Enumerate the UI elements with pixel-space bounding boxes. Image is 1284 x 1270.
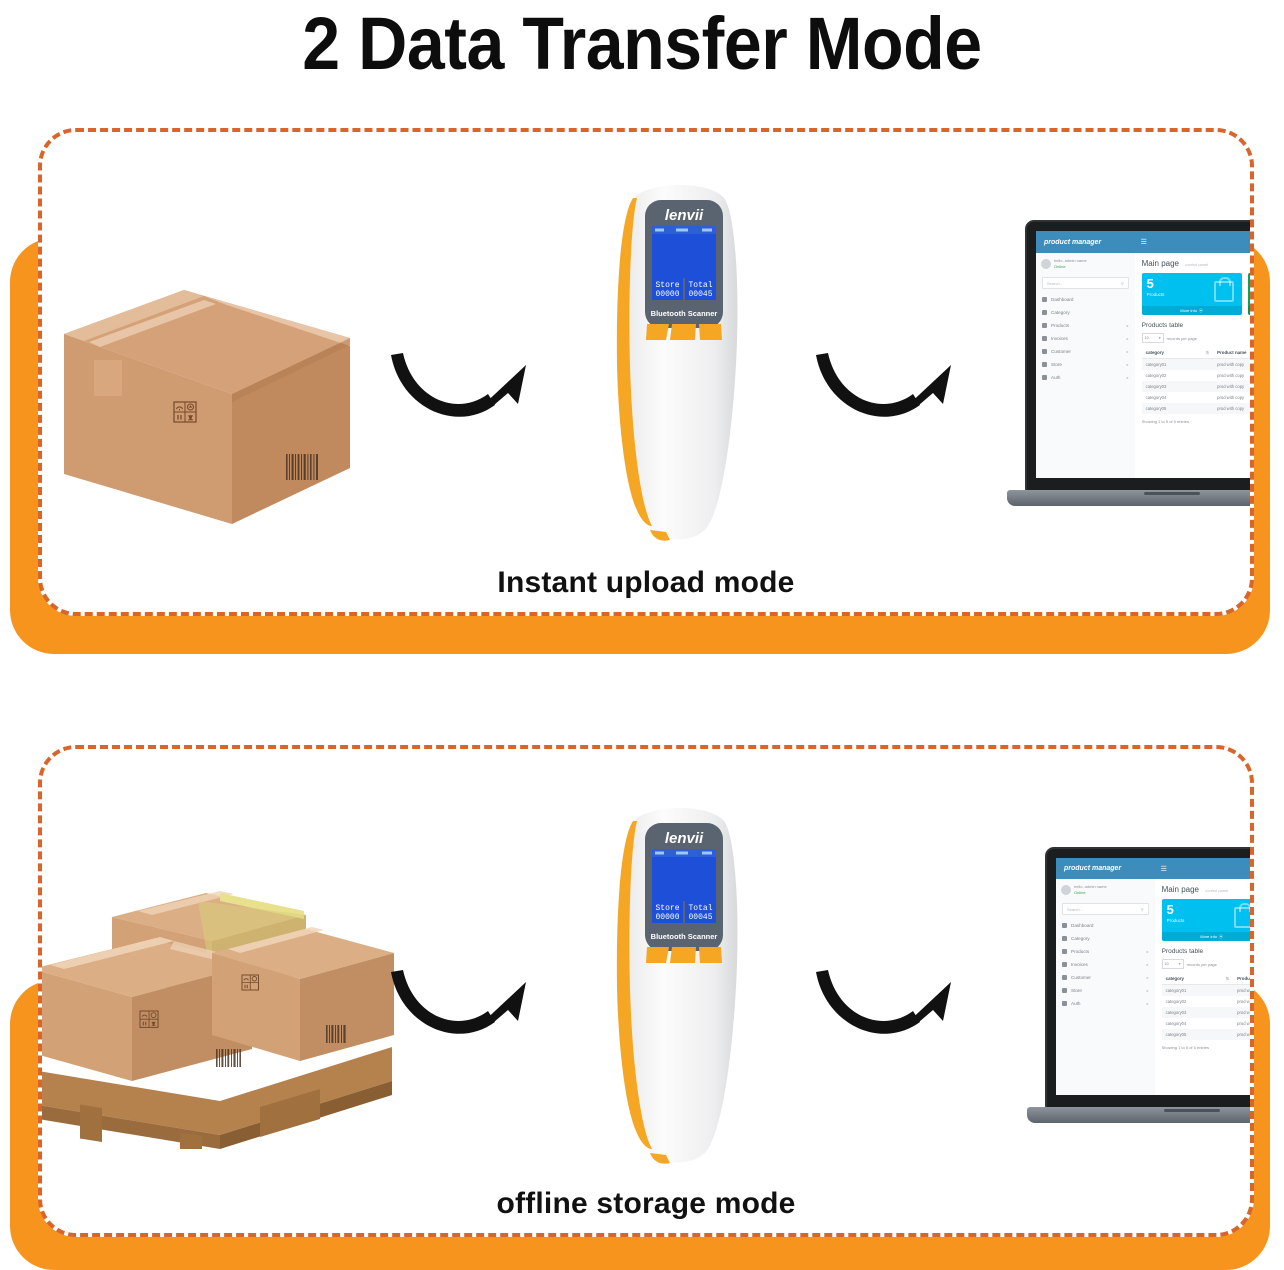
chevron-down-icon: ▾ bbox=[1159, 336, 1161, 340]
bag-icon bbox=[1214, 281, 1234, 302]
page-size-select[interactable]: 10 ▾ bbox=[1162, 959, 1184, 969]
main-page-title: Main page bbox=[1162, 885, 1199, 894]
stat-label: purchases bbox=[1253, 292, 1254, 297]
auth-icon bbox=[1042, 375, 1047, 380]
products-table-title: Products table bbox=[1142, 322, 1254, 329]
chevron-right-icon: ▸ bbox=[1147, 962, 1149, 967]
scanner-total-label: Total bbox=[688, 904, 712, 913]
search-input[interactable]: Search... ⚲ bbox=[1062, 903, 1149, 915]
table-length-control[interactable]: 10 ▾ records per page bbox=[1162, 959, 1254, 969]
panel-instant-upload: lenvii Store 00000 Total 00045 Bluetooth… bbox=[10, 128, 1276, 658]
chevron-right-icon: ▸ bbox=[1127, 336, 1129, 341]
chevron-right-icon: ▸ bbox=[1127, 362, 1129, 367]
laptop-trackpad-notch bbox=[1144, 492, 1200, 495]
sidebar-item-label: Products bbox=[1071, 949, 1089, 954]
sidebar-item-category[interactable]: Category bbox=[1036, 306, 1135, 319]
user-status: Online bbox=[1074, 890, 1107, 896]
column-category[interactable]: category⇅ bbox=[1162, 973, 1234, 985]
sidebar-user[interactable]: hello, admin name Online bbox=[1056, 879, 1155, 901]
barcode-scanner: lenvii Store 00000 Total 00045 Bluetooth… bbox=[590, 174, 770, 554]
table-entries-info: Showing 1 to 5 of 5 entries bbox=[1142, 419, 1254, 424]
more-info-link[interactable]: More info bbox=[1248, 306, 1254, 315]
curved-arrow-pallet-to-scanner bbox=[387, 964, 547, 1059]
table-row[interactable]: category04prod with copy bbox=[1142, 392, 1254, 403]
dashboard-screen: product manager ☰ hello, admin name Onli… bbox=[1036, 231, 1254, 478]
scanner-brand-text: lenvii bbox=[665, 830, 704, 847]
sidebar-item-auth[interactable]: Auth ▸ bbox=[1036, 371, 1135, 384]
table-row[interactable]: category01prod with copy bbox=[1162, 985, 1254, 997]
dashboard-icon bbox=[1042, 297, 1047, 302]
user-status: Online bbox=[1054, 264, 1087, 270]
more-info-label: More info bbox=[1180, 308, 1197, 313]
invoice-icon bbox=[1042, 336, 1047, 341]
chevron-circle-icon: ⦿ bbox=[1219, 934, 1223, 940]
laptop-base bbox=[1007, 490, 1254, 506]
main-page-heading: Main page control panel bbox=[1142, 259, 1254, 268]
customer-icon bbox=[1042, 349, 1047, 354]
sidebar-item-label: Customer bbox=[1071, 975, 1091, 980]
sidebar-item-dashboard[interactable]: Dashboard bbox=[1036, 293, 1135, 306]
curved-arrow-scanner-to-laptop bbox=[812, 347, 972, 442]
dashboard-icon bbox=[1062, 923, 1067, 928]
chevron-right-icon: ▸ bbox=[1127, 349, 1129, 354]
column-product-name[interactable]: Product name bbox=[1213, 347, 1254, 359]
store-icon bbox=[1062, 988, 1067, 993]
sidebar-item-label: Auth bbox=[1051, 375, 1060, 380]
column-product-name[interactable]: Product name bbox=[1233, 973, 1254, 985]
page-size-select[interactable]: 10 ▾ bbox=[1142, 333, 1164, 343]
table-header-row: category⇅ Product name bbox=[1142, 347, 1254, 359]
bag-icon bbox=[1234, 907, 1254, 928]
sidebar-item-label: Products bbox=[1051, 323, 1069, 328]
sidebar-item-auth[interactable]: Auth ▸ bbox=[1056, 997, 1155, 1010]
sidebar-item-store[interactable]: Store ▸ bbox=[1036, 358, 1135, 371]
table-row[interactable]: category04prod with copy bbox=[1162, 1018, 1254, 1029]
table-length-control[interactable]: 10 ▾ records per page bbox=[1142, 333, 1254, 343]
sidebar-item-label: Customer bbox=[1051, 349, 1071, 354]
panel-offline-storage: lenvii Store 00000 Total 00045 Bluetooth… bbox=[10, 745, 1276, 1265]
dashboard-topbar: product manager ☰ bbox=[1036, 231, 1254, 253]
scanner-total-value: 00045 bbox=[688, 913, 712, 922]
sidebar-user[interactable]: hello, admin name Online bbox=[1036, 253, 1135, 275]
dashboard-sidebar: hello, admin name Online Search... ⚲ Das bbox=[1036, 253, 1136, 478]
scanner-store-value: 00000 bbox=[655, 913, 679, 922]
sidebar-item-label: Store bbox=[1051, 362, 1062, 367]
category-icon bbox=[1062, 936, 1067, 941]
products-table: category⇅ Product name category01prod wi… bbox=[1142, 347, 1254, 414]
stat-card-products[interactable]: 5 Products More info ⦿ bbox=[1162, 899, 1254, 941]
curved-arrow-box-to-scanner bbox=[387, 347, 547, 442]
sidebar-item-products[interactable]: Products ▸ bbox=[1056, 945, 1155, 958]
dashboard-topbar: product manager ☰ bbox=[1056, 858, 1254, 879]
sidebar-item-label: Invoices bbox=[1071, 962, 1088, 967]
search-input[interactable]: Search... ⚲ bbox=[1042, 277, 1129, 289]
sidebar-item-label: Dashboard bbox=[1071, 923, 1093, 928]
table-row[interactable]: category02prod with copy bbox=[1142, 370, 1254, 381]
dashboard-main: Main page control panel 5 Products More … bbox=[1135, 253, 1254, 478]
laptop-lid: product manager ☰ hello, admin name Onli… bbox=[1045, 847, 1254, 1109]
stat-card-purchases[interactable]: 3 purchases More info bbox=[1248, 273, 1254, 315]
sidebar-item-customer[interactable]: Customer ▸ bbox=[1056, 971, 1155, 984]
products-table: category⇅ Product name category01prod wi… bbox=[1162, 973, 1254, 1040]
laptop-dashboard: product manager ☰ hello, admin name Onli… bbox=[1007, 220, 1254, 540]
category-icon bbox=[1042, 310, 1047, 315]
dashboard-brand: product manager bbox=[1036, 239, 1135, 246]
scanner-store-label: Store bbox=[655, 281, 679, 290]
sidebar-item-label: Invoices bbox=[1051, 336, 1068, 341]
laptop-trackpad-notch bbox=[1164, 1109, 1220, 1112]
more-info-link[interactable]: More info ⦿ bbox=[1142, 306, 1242, 315]
panel-caption: Instant upload mode bbox=[42, 566, 1250, 600]
table-row[interactable]: category03prod with copy bbox=[1162, 1007, 1254, 1018]
table-row[interactable]: category02prod with copy bbox=[1162, 996, 1254, 1007]
main-page-title: Main page bbox=[1142, 259, 1179, 268]
auth-icon bbox=[1062, 1001, 1067, 1006]
scanner-brand-text: lenvii bbox=[665, 207, 704, 224]
sort-icon[interactable]: ⇅ bbox=[1206, 350, 1209, 355]
sidebar-item-products[interactable]: Products ▸ bbox=[1036, 319, 1135, 332]
chevron-circle-icon: ⦿ bbox=[1199, 308, 1203, 314]
hamburger-icon[interactable]: ☰ bbox=[1135, 238, 1147, 246]
table-entries-info: Showing 1 to 5 of 5 entries bbox=[1162, 1045, 1254, 1050]
sidebar-item-invoices[interactable]: Invoices ▸ bbox=[1036, 332, 1135, 345]
scanner-store-value: 00000 bbox=[655, 290, 679, 299]
page-size-label: records per page bbox=[1167, 336, 1197, 341]
sidebar-item-label: Category bbox=[1071, 936, 1090, 941]
stat-value: 3 bbox=[1253, 277, 1254, 290]
search-placeholder: Search... bbox=[1067, 907, 1083, 912]
page-size-value: 10 bbox=[1145, 336, 1149, 340]
stat-card-products[interactable]: 5 Products More info ⦿ bbox=[1142, 273, 1242, 315]
table-header-row: category⇅ Product name bbox=[1162, 973, 1254, 985]
invoice-icon bbox=[1062, 962, 1067, 967]
chevron-right-icon: ▸ bbox=[1147, 975, 1149, 980]
sidebar-item-invoices[interactable]: Invoices ▸ bbox=[1056, 958, 1155, 971]
chevron-right-icon: ▸ bbox=[1127, 323, 1129, 328]
chevron-right-icon: ▸ bbox=[1127, 375, 1129, 380]
dashboard-screen: product manager ☰ hello, admin name Onli… bbox=[1056, 858, 1254, 1095]
laptop-base bbox=[1027, 1107, 1254, 1123]
scanner-model-label: Bluetooth Scanner bbox=[651, 309, 718, 318]
table-row[interactable]: category05prod with copy bbox=[1162, 1029, 1254, 1040]
sidebar-item-label: Dashboard bbox=[1051, 297, 1073, 302]
sidebar-item-category[interactable]: Category bbox=[1056, 932, 1155, 945]
barcode-scanner: lenvii Store 00000 Total 00045 Bluetooth… bbox=[590, 797, 770, 1177]
sidebar-item-label: Category bbox=[1051, 310, 1070, 315]
scanner-total-value: 00045 bbox=[688, 290, 712, 299]
hamburger-icon[interactable]: ☰ bbox=[1155, 865, 1167, 873]
products-table-title: Products table bbox=[1162, 948, 1254, 955]
dashboard-main: Main page control panel 5 Products More … bbox=[1155, 879, 1254, 1095]
dashboard-sidebar: hello, admin name Online Search... ⚲ Das bbox=[1056, 879, 1156, 1095]
sort-icon[interactable]: ⇅ bbox=[1226, 976, 1229, 981]
search-icon[interactable]: ⚲ bbox=[1121, 281, 1124, 286]
search-placeholder: Search... bbox=[1047, 281, 1063, 286]
page-size-value: 10 bbox=[1165, 962, 1169, 966]
sidebar-item-customer[interactable]: Customer ▸ bbox=[1036, 345, 1135, 358]
scanner-total-label: Total bbox=[688, 281, 712, 290]
dashed-content-panel: lenvii Store 00000 Total 00045 Bluetooth… bbox=[38, 128, 1254, 616]
single-cardboard-box bbox=[54, 242, 354, 542]
sidebar-item-label: Auth bbox=[1071, 1001, 1080, 1006]
main-page-heading: Main page control panel bbox=[1162, 885, 1254, 894]
chevron-down-icon: ▾ bbox=[1179, 962, 1181, 966]
sidebar-item-label: Store bbox=[1071, 988, 1082, 993]
stat-cards: 5 Products More info ⦿ 3 bbox=[1142, 273, 1254, 315]
avatar bbox=[1061, 885, 1071, 895]
store-icon bbox=[1042, 362, 1047, 367]
products-icon bbox=[1042, 323, 1047, 328]
curved-arrow-scanner-to-laptop bbox=[812, 964, 972, 1059]
stat-cards: 5 Products More info ⦿ 3 bbox=[1162, 899, 1254, 941]
scanner-store-label: Store bbox=[655, 904, 679, 913]
scanner-model-label: Bluetooth Scanner bbox=[651, 932, 718, 941]
table-row[interactable]: category03prod with copy bbox=[1142, 381, 1254, 392]
dashboard-brand: product manager bbox=[1056, 865, 1155, 872]
chevron-right-icon: ▸ bbox=[1147, 1001, 1149, 1006]
pallet-of-boxes bbox=[38, 849, 400, 1149]
chevron-right-icon: ▸ bbox=[1147, 949, 1149, 954]
sidebar-item-store[interactable]: Store ▸ bbox=[1056, 984, 1155, 997]
page-size-label: records per page bbox=[1187, 962, 1217, 967]
main-page-subtitle: control panel bbox=[1185, 262, 1208, 267]
avatar bbox=[1041, 259, 1051, 269]
table-row[interactable]: category01prod with copy bbox=[1142, 359, 1254, 371]
products-icon bbox=[1062, 949, 1067, 954]
page-title: 2 Data Transfer Mode bbox=[51, 2, 1232, 86]
more-info-link[interactable]: More info ⦿ bbox=[1162, 932, 1254, 941]
more-info-label: More info bbox=[1200, 934, 1217, 939]
table-row[interactable]: category05prod with copy bbox=[1142, 403, 1254, 414]
panel-caption: offline storage mode bbox=[42, 1187, 1250, 1221]
search-icon[interactable]: ⚲ bbox=[1141, 907, 1144, 912]
dashed-content-panel: lenvii Store 00000 Total 00045 Bluetooth… bbox=[38, 745, 1254, 1237]
chevron-right-icon: ▸ bbox=[1147, 988, 1149, 993]
laptop-lid: product manager ☰ hello, admin name Onli… bbox=[1025, 220, 1254, 492]
laptop-dashboard: product manager ☰ hello, admin name Onli… bbox=[1027, 847, 1254, 1157]
customer-icon bbox=[1062, 975, 1067, 980]
main-page-subtitle: control panel bbox=[1205, 888, 1228, 893]
sidebar-item-dashboard[interactable]: Dashboard bbox=[1056, 919, 1155, 932]
column-category[interactable]: category⇅ bbox=[1142, 347, 1214, 359]
